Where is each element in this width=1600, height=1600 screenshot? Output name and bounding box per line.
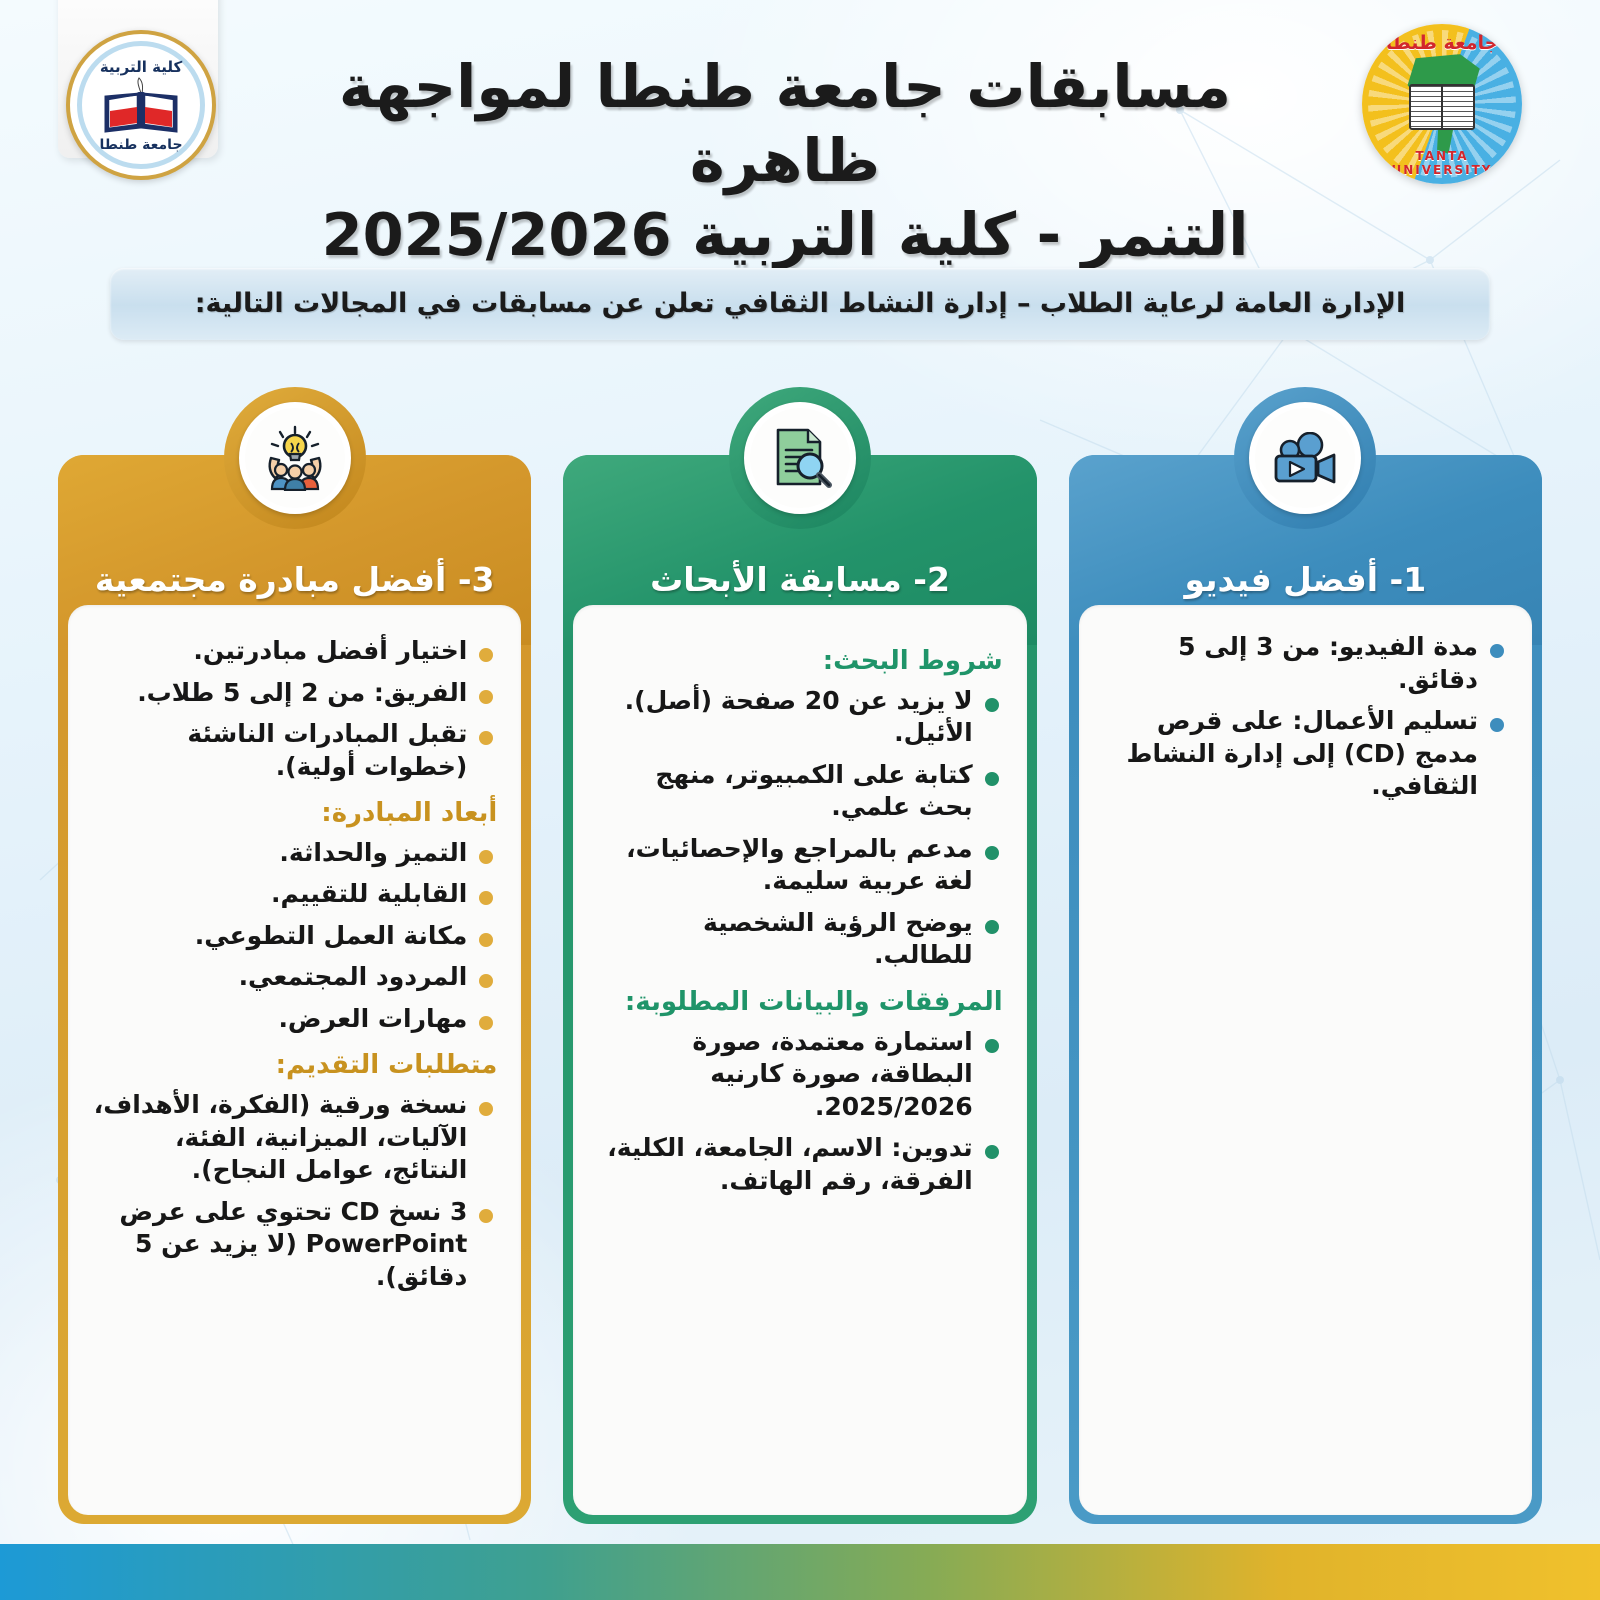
list-item: 3 نسخ CD تحتوي على عرض PowerPoint (لا يز… (92, 1196, 497, 1294)
page-title: مسابقات جامعة طنطا لمواجهة ظاهرة التنمر … (270, 50, 1300, 271)
list-item: تقبل المبادرات الناشئة (خطوات أولية). (92, 718, 497, 783)
education-faculty-logo-top-text: كلية التربية (82, 58, 200, 76)
video-camera-icon (1234, 387, 1376, 529)
card-research-list-2: استمارة معتمدة، صورة البطاقة، صورة كارني… (597, 1026, 1002, 1198)
education-faculty-logo-bottom-text: جامعة طنطا (82, 137, 200, 153)
poster-header: كلية التربية جامعة طنطا مسابقات جامعة طن… (0, 0, 1600, 250)
tanta-university-logo: جامعة طنطا TANTA UNIVERSITY (1362, 24, 1522, 184)
list-item: مكانة العمل التطوعي. (92, 920, 497, 953)
list-item: كتابة على الكمبيوتر، منهج بحث علمي. (597, 759, 1002, 824)
list-item: مدة الفيديو: من 3 إلى 5 دقائق. (1103, 631, 1508, 696)
card-initiative-list-3: نسخة ورقية (الفكرة، الأهداف، الآليات، ال… (92, 1089, 497, 1293)
card-initiative: 3- أفضل مبادرة مجتمعية اختيار أفضل مبادر… (58, 455, 531, 1524)
education-faculty-logo: كلية التربية جامعة طنطا (66, 30, 216, 180)
list-item: الفريق: من 2 إلى 5 طلاب. (92, 677, 497, 710)
list-item: مهارات العرض. (92, 1003, 497, 1036)
card-initiative-title: 3- أفضل مبادرة مجتمعية (58, 551, 531, 607)
competition-cards-row: 1- أفضل فيديو مدة الفيديو: من 3 إلى 5 دق… (58, 455, 1542, 1524)
document-search-glyph (766, 424, 834, 492)
card-initiative-section-heading-2: متطلبات التقديم: (92, 1049, 497, 1083)
card-initiative-section-heading-1: أبعاد المبادرة: (92, 797, 497, 831)
tanta-university-logo-english-text: TANTA UNIVERSITY (1362, 149, 1522, 177)
tanta-university-logo-arabic-text: جامعة طنطا (1362, 32, 1522, 54)
video-camera-glyph (1270, 432, 1340, 484)
list-item: تدوين: الاسم، الجامعة، الكلية، الفرقة، ر… (597, 1132, 1002, 1197)
lightbulb-hands-community-glyph (259, 425, 331, 491)
card-research-section-heading-1: شروط البحث: (597, 645, 1002, 679)
footer-gradient-bar (0, 1544, 1600, 1600)
list-item: المردود المجتمعي. (92, 961, 497, 994)
card-research: 2- مسابقة الأبحاث شروط البحث: لا يزيد عن… (563, 455, 1036, 1524)
card-research-title: 2- مسابقة الأبحاث (563, 551, 1036, 607)
list-item: مدعم بالمراجع والإحصائيات، لغة عربية سلي… (597, 833, 1002, 898)
lightbulb-hands-community-icon (224, 387, 366, 529)
card-video-body: مدة الفيديو: من 3 إلى 5 دقائق. تسليم الأ… (1079, 605, 1532, 1515)
page-title-line-1: مسابقات جامعة طنطا لمواجهة ظاهرة (270, 50, 1300, 198)
card-video: 1- أفضل فيديو مدة الفيديو: من 3 إلى 5 دق… (1069, 455, 1542, 1524)
list-item: التميز والحداثة. (92, 837, 497, 870)
card-initiative-body: اختيار أفضل مبادرتين. الفريق: من 2 إلى 5… (68, 605, 521, 1515)
list-item: القابلية للتقييم. (92, 878, 497, 911)
document-search-icon (729, 387, 871, 529)
card-video-list: مدة الفيديو: من 3 إلى 5 دقائق. تسليم الأ… (1103, 631, 1508, 803)
university-logo-book-icon (1409, 84, 1475, 130)
poster-canvas: كلية التربية جامعة طنطا مسابقات جامعة طن… (0, 0, 1600, 1600)
list-item: يوضح الرؤية الشخصية للطالب. (597, 907, 1002, 972)
list-item: لا يزيد عن 20 صفحة (أصل). الأئيل. (597, 685, 1002, 750)
open-book-quill-icon (104, 77, 178, 133)
list-item: تسليم الأعمال: على قرص مدمج (CD) إلى إدا… (1103, 705, 1508, 803)
page-title-line-2: التنمر - كلية التربية 2025/2026 (270, 198, 1300, 272)
list-item: استمارة معتمدة، صورة البطاقة، صورة كارني… (597, 1026, 1002, 1124)
list-item: نسخة ورقية (الفكرة، الأهداف، الآليات، ال… (92, 1089, 497, 1187)
card-research-section-heading-2: المرفقات والبيانات المطلوبة: (597, 986, 1002, 1020)
list-item: اختيار أفضل مبادرتين. (92, 635, 497, 668)
announcement-banner: الإدارة العامة لرعاية الطلاب – إدارة الن… (110, 268, 1490, 340)
announcement-banner-text: الإدارة العامة لرعاية الطلاب – إدارة الن… (195, 286, 1406, 321)
card-initiative-list-1: اختيار أفضل مبادرتين. الفريق: من 2 إلى 5… (92, 635, 497, 783)
card-video-title: 1- أفضل فيديو (1069, 551, 1542, 607)
card-research-list-1: لا يزيد عن 20 صفحة (أصل). الأئيل. كتابة … (597, 685, 1002, 972)
card-research-body: شروط البحث: لا يزيد عن 20 صفحة (أصل). ال… (573, 605, 1026, 1515)
card-initiative-list-2: التميز والحداثة. القابلية للتقييم. مكانة… (92, 837, 497, 1036)
